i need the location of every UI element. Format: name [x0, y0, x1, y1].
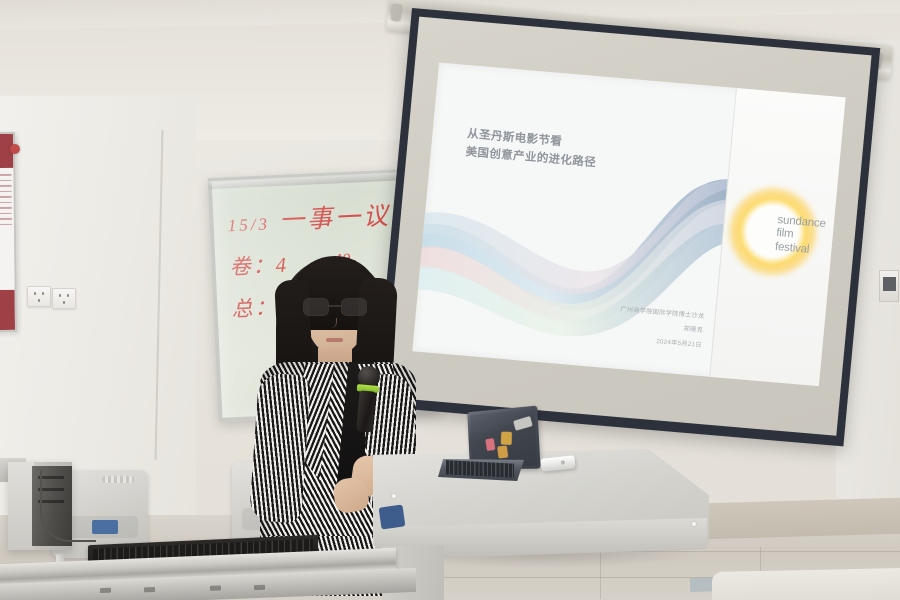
floor-mat — [712, 568, 900, 600]
laptop[interactable] — [438, 409, 546, 481]
whiteboard-line-1: 15/3 一事一议 — [227, 196, 392, 239]
podium-screw — [392, 494, 396, 498]
microphone-body — [356, 390, 376, 432]
rail-slot — [254, 585, 265, 590]
power-outlet[interactable] — [27, 286, 51, 307]
laptop-sticker — [485, 438, 495, 451]
rail-slot — [144, 587, 155, 592]
desk-object-blue — [379, 504, 406, 529]
wall-control-panel[interactable] — [879, 270, 899, 302]
power-outlet[interactable] — [52, 288, 76, 309]
notice-board-footer — [0, 290, 15, 330]
laptop-sticker — [497, 445, 508, 458]
outlet-holes — [32, 291, 46, 302]
chair-grip — [102, 476, 134, 483]
presentation-slide: sundance film festival 从圣丹斯电影节看 美国创意产业的进… — [412, 63, 845, 387]
projection-screen: sundance film festival 从圣丹斯电影节看 美国创意产业的进… — [375, 8, 880, 446]
laptop-sticker — [501, 432, 512, 445]
roller-bracket — [391, 4, 402, 21]
slide-footer: 广州商学院国际学院博士沙龙 郑晓克 2024年5月21日 — [617, 303, 705, 353]
glasses-icon — [303, 298, 369, 316]
notice-board-lines — [0, 174, 12, 229]
laptop-sticker — [513, 416, 533, 431]
outlet-holes — [57, 293, 71, 304]
mouth — [326, 338, 343, 342]
laptop-lid-surface — [470, 409, 537, 466]
podium-screw — [692, 522, 696, 526]
sundance-film-festival-logo: sundance film festival — [774, 214, 826, 259]
power-cable — [40, 470, 96, 542]
rail-slot — [210, 585, 221, 590]
desk-object-blue — [92, 520, 118, 534]
smoke-detector-icon — [10, 144, 20, 154]
arm-left — [249, 372, 311, 523]
rail-slot — [100, 588, 111, 593]
screen-surface: sundance film festival 从圣丹斯电影节看 美国创意产业的进… — [384, 17, 872, 436]
notice-board — [0, 132, 17, 332]
classroom-scene: 15/3 一事一议 卷：4 40- 总：6 ↓ 不及格 — [0, 0, 900, 600]
pc-tower-side — [8, 462, 34, 550]
